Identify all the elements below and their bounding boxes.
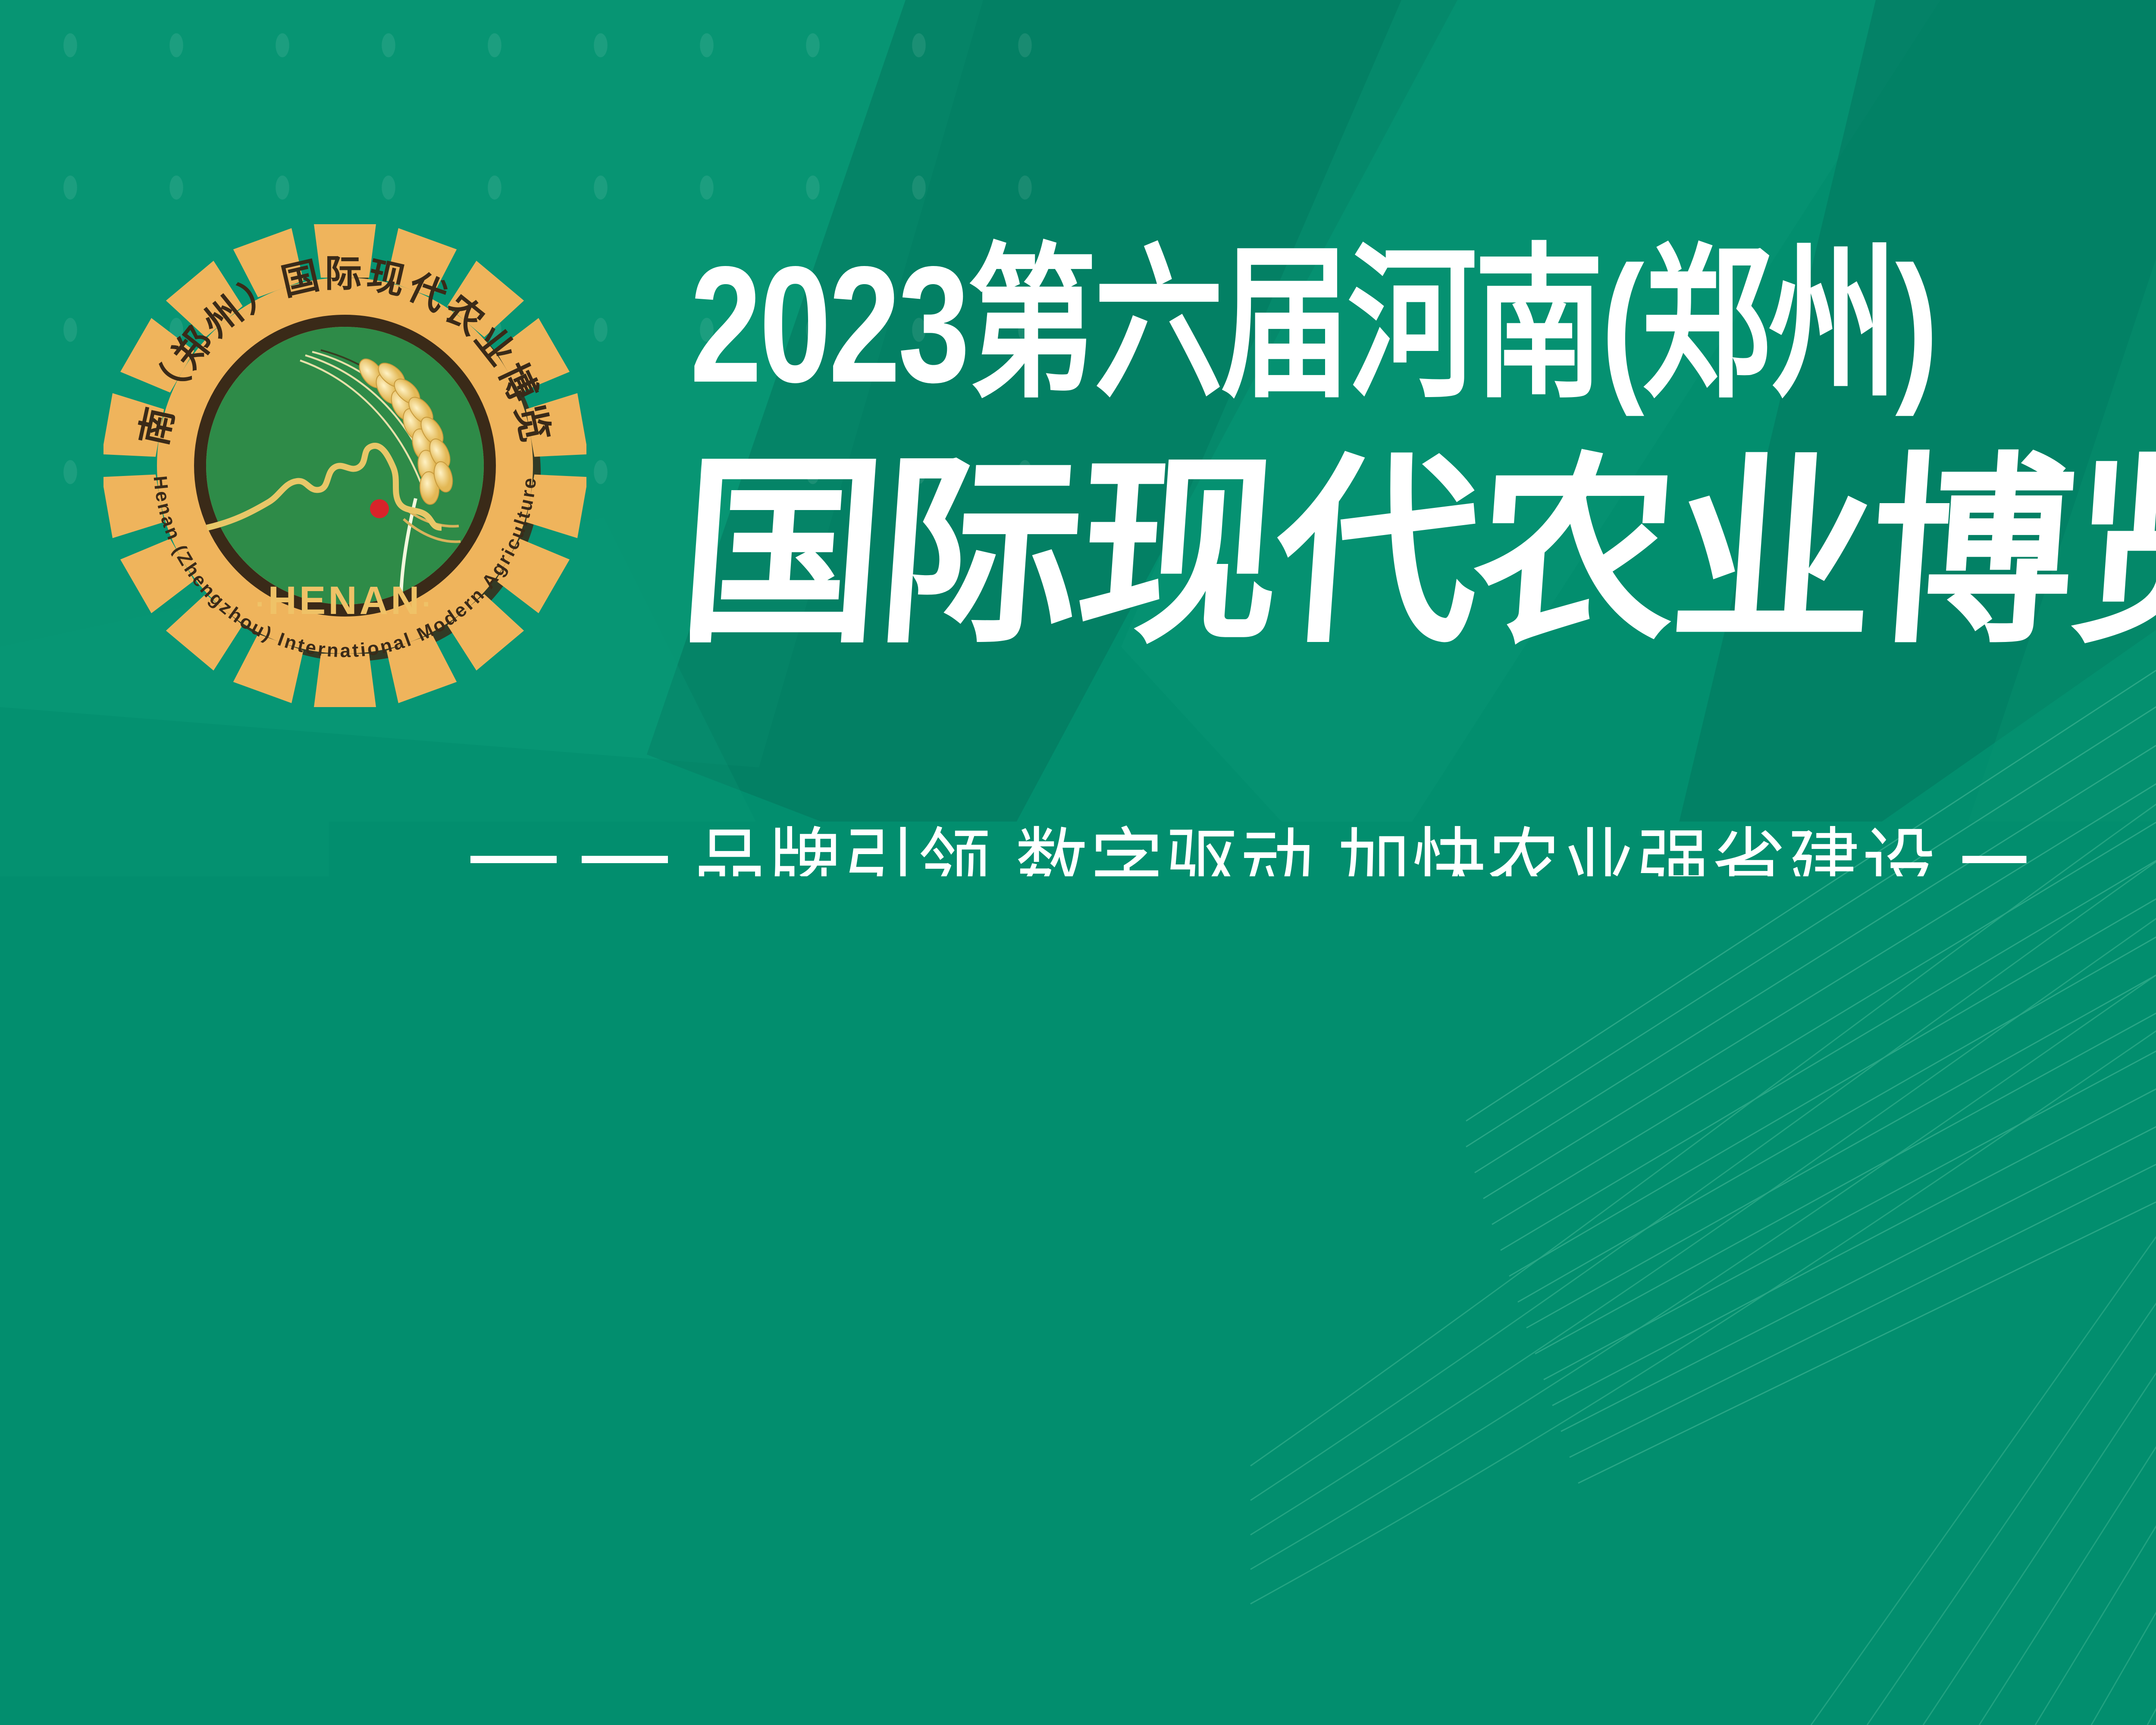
subtitle-row: 品牌引领 数字驱动 加快农业强省建设 bbox=[216, 806, 2156, 912]
svg-text:·HENAN·: ·HENAN· bbox=[256, 579, 434, 623]
subtitle-text: 品牌引领 数字驱动 加快农业强省建设 bbox=[693, 800, 1937, 919]
credit-line-hosts: 主办单位：河南日报社 河南省农业农村厅 河南省商务厅 bbox=[241, 1514, 1129, 1543]
event-venue: 郑州国际会展中心 bbox=[300, 1208, 1097, 1315]
exhibition-poster: 河南（郑州）国际现代农业博览会 Henan (Zhengzhou) Intern… bbox=[0, 0, 2156, 1725]
convention-center-icon bbox=[1626, 1149, 2156, 1725]
title-block: 2023第六届河南(郑州) 国际现代农业博览会 bbox=[690, 241, 2156, 371]
credit-line-organizers: 承办单位：大河报（大河传媒有限公司） 郑州汇卓展览策划有限公司 bbox=[241, 1581, 1129, 1610]
subtitle-dash-right bbox=[1962, 856, 2049, 863]
gold-accent-bar bbox=[246, 1028, 254, 1315]
title-line-2-text: 国际现代农业博览会 bbox=[690, 443, 2156, 667]
subtitle-dash-left-2 bbox=[582, 856, 668, 863]
capital-dot-icon bbox=[370, 499, 389, 518]
title-line-1: 2023第六届河南(郑州) bbox=[690, 241, 2156, 407]
event-date: 2023年10月8-10日 bbox=[300, 1028, 1097, 1148]
pagoda-icon bbox=[1371, 936, 1673, 1725]
credit-line-approver: 批准单位：中共河南省委 bbox=[241, 1448, 1129, 1477]
logo-center-text: HENAN bbox=[268, 579, 422, 623]
subtitle-dash-left bbox=[470, 856, 557, 863]
date-venue-block: 2023年10月8-10日 郑州国际会展中心 bbox=[246, 1028, 1097, 1315]
exhibition-logo: 河南（郑州）国际现代农业博览会 Henan (Zhengzhou) Intern… bbox=[103, 224, 586, 707]
organizer-credits: 批准单位：中共河南省委 主办单位：河南日报社 河南省农业农村厅 河南省商务厅 承… bbox=[241, 1448, 1129, 1610]
subtitle-dash-right-2 bbox=[2074, 856, 2156, 863]
title-line-2: 国际现代农业博览会 bbox=[690, 427, 2156, 668]
